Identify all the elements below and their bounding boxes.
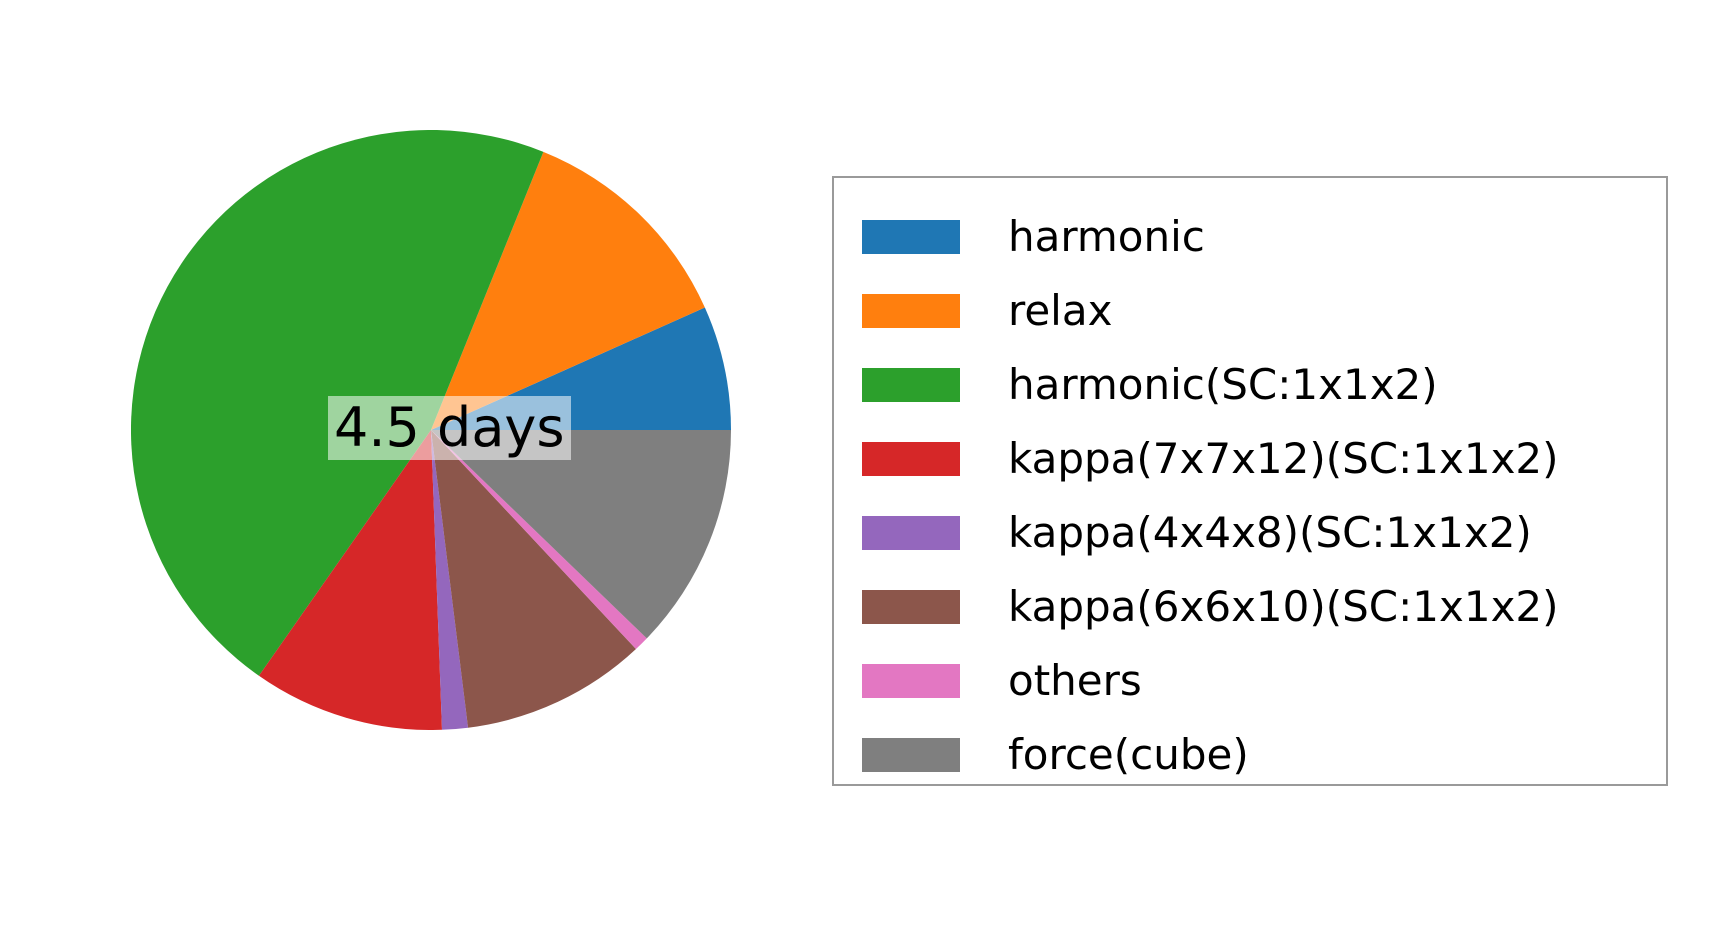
legend-box: harmonicrelaxharmonic(SC:1x1x2)kappa(7x7…	[832, 176, 1668, 786]
legend-item[interactable]: force(cube)	[862, 718, 1648, 792]
legend-item-label: others	[1008, 658, 1142, 704]
legend-list: harmonicrelaxharmonic(SC:1x1x2)kappa(7x7…	[862, 200, 1648, 792]
legend-item[interactable]: others	[862, 644, 1648, 718]
legend-item[interactable]: kappa(6x6x10)(SC:1x1x2)	[862, 570, 1648, 644]
legend-swatch-icon	[862, 738, 960, 772]
legend-swatch-icon	[862, 516, 960, 550]
center-annotation-text: 4.5 days	[334, 400, 565, 456]
legend-item-label: harmonic	[1008, 214, 1205, 260]
legend-item-label: kappa(7x7x12)(SC:1x1x2)	[1008, 436, 1559, 482]
legend-item-label: kappa(4x4x8)(SC:1x1x2)	[1008, 510, 1532, 556]
legend-item[interactable]: relax	[862, 274, 1648, 348]
legend-item[interactable]: kappa(4x4x8)(SC:1x1x2)	[862, 496, 1648, 570]
legend-item[interactable]: harmonic(SC:1x1x2)	[862, 348, 1648, 422]
legend-item-label: kappa(6x6x10)(SC:1x1x2)	[1008, 584, 1559, 630]
legend-swatch-icon	[862, 442, 960, 476]
legend-swatch-icon	[862, 220, 960, 254]
legend-swatch-icon	[862, 368, 960, 402]
legend-item[interactable]: kappa(7x7x12)(SC:1x1x2)	[862, 422, 1648, 496]
figure-canvas: 4.5 days harmonicrelaxharmonic(SC:1x1x2)…	[0, 0, 1728, 951]
legend-swatch-icon	[862, 664, 960, 698]
legend-item-label: harmonic(SC:1x1x2)	[1008, 362, 1438, 408]
legend-swatch-icon	[862, 294, 960, 328]
legend-item-label: force(cube)	[1008, 732, 1249, 778]
legend-swatch-icon	[862, 590, 960, 624]
legend-item[interactable]: harmonic	[862, 200, 1648, 274]
legend-item-label: relax	[1008, 288, 1112, 334]
center-annotation: 4.5 days	[328, 396, 571, 460]
